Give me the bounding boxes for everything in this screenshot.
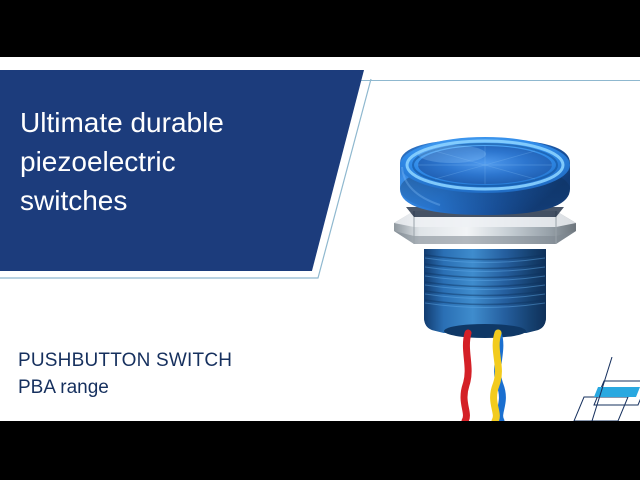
letterbox-top <box>0 0 640 57</box>
caption-secondary: PBA range <box>18 374 232 401</box>
switch-button-cap <box>400 137 570 215</box>
switch-lead-wires <box>464 333 502 421</box>
accent-horizontal-line <box>356 80 640 81</box>
letterbox-bottom <box>0 421 640 480</box>
switch-threaded-body <box>424 249 546 338</box>
caption-primary: PUSHBUTTON SWITCH <box>18 347 232 374</box>
decorative-motif <box>560 357 640 421</box>
slide-canvas: Ultimate durable piezoelectric switches … <box>0 57 640 421</box>
product-image <box>380 127 590 421</box>
page-title: Ultimate durable piezoelectric switches <box>20 103 320 220</box>
caption-block: PUSHBUTTON SWITCH PBA range <box>18 347 232 401</box>
slide-root: Ultimate durable piezoelectric switches … <box>0 0 640 480</box>
